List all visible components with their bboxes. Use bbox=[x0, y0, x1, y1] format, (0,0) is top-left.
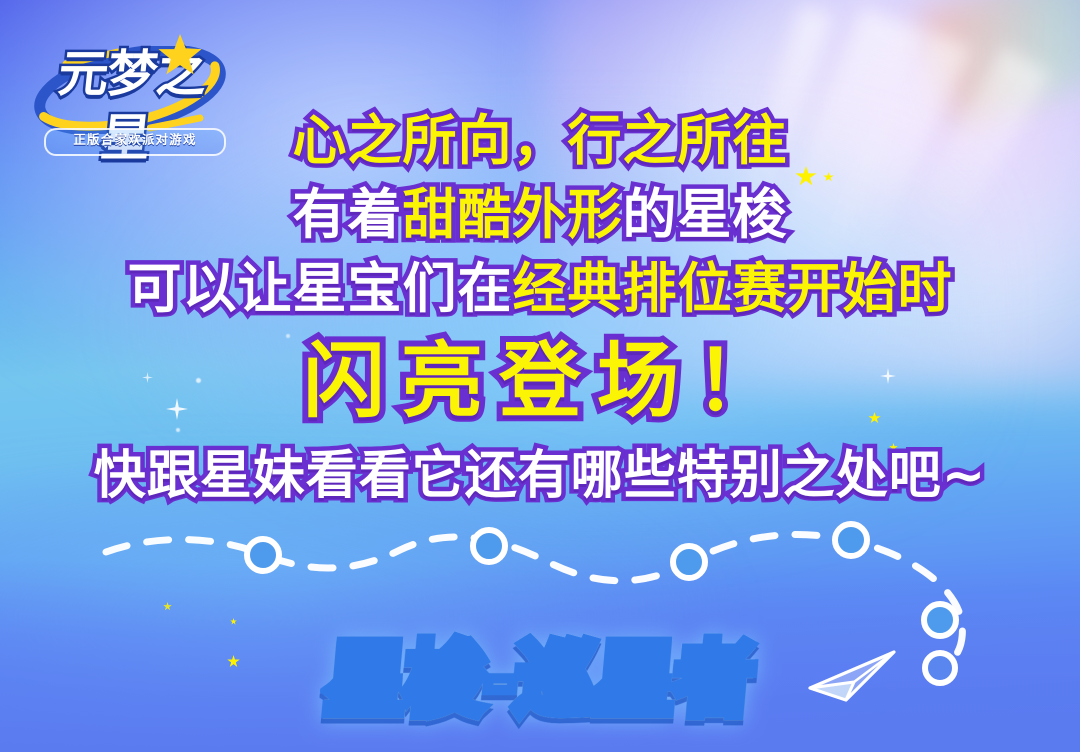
headline-emphasis: 闪亮登场！ bbox=[303, 334, 793, 429]
headline-line-2: 有着甜酷外形的星梭 bbox=[0, 178, 1080, 252]
logo-wordmark: 元梦之星 bbox=[37, 42, 228, 106]
route-node bbox=[247, 539, 279, 571]
headline-block: 心之所向，行之所往 有着甜酷外形的星梭 可以让星宝们在经典排位赛开始时 闪亮登场… bbox=[0, 104, 1080, 514]
headline-line-1: 心之所向，行之所往 bbox=[0, 104, 1080, 178]
headline-segment-highlight: 经典排位赛开始时 bbox=[513, 257, 953, 320]
route-node bbox=[673, 546, 705, 578]
poster-canvas: 元梦之星 正版合家欢派对游戏 心之所向，行之所往 有着甜酷外形的星梭 可以让星宝… bbox=[0, 0, 1080, 752]
headline-segment: 快跟星妹看看它还有哪些特别之处吧~ bbox=[94, 446, 987, 506]
headline-segment: 的星梭 bbox=[623, 183, 788, 246]
headline-segment: 可以让星宝们在 bbox=[128, 257, 513, 320]
headline-line-4: 闪亮登场！ bbox=[0, 326, 1080, 438]
route-node bbox=[473, 530, 505, 562]
feature-title: 星梭-巡星者 bbox=[0, 628, 1080, 732]
paper-plane-icon bbox=[806, 648, 898, 706]
headline-segment: 心之所向，行之所往 bbox=[293, 109, 788, 172]
route-node bbox=[835, 524, 867, 556]
headline-segment-highlight: 甜酷外形 bbox=[403, 183, 623, 246]
feature-title-text: 星梭-巡星者 bbox=[322, 628, 758, 732]
headline-segment: 有着 bbox=[293, 183, 403, 246]
headline-line-3: 可以让星宝们在经典排位赛开始时 bbox=[0, 252, 1080, 326]
